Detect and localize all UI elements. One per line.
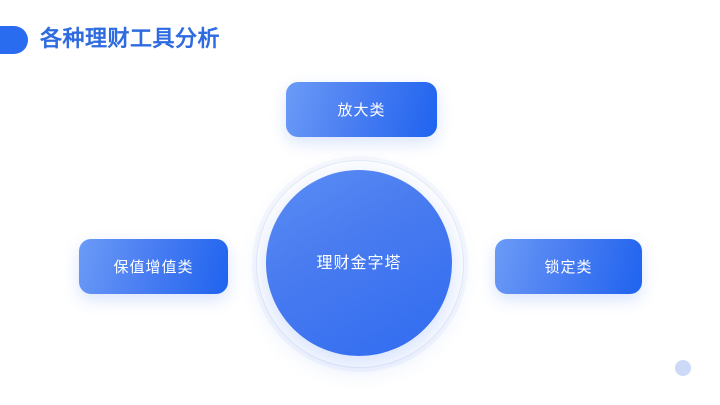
diagram-node-label: 保值增值类 — [113, 257, 193, 277]
title-accent-shape — [0, 26, 28, 54]
decorative-dot — [675, 360, 691, 376]
diagram-node-left[interactable]: 保值增值类 — [79, 239, 228, 294]
diagram-node-top[interactable]: 放大类 — [286, 82, 437, 137]
diagram-node-label: 放大类 — [337, 100, 385, 120]
diagram-node-right[interactable]: 锁定类 — [495, 239, 642, 294]
slide-canvas: 各种理财工具分析 理财金字塔 放大类 保值增值类 锁定类 — [0, 0, 720, 405]
hub-node-label: 理财金字塔 — [316, 252, 401, 274]
diagram-node-label: 锁定类 — [544, 257, 592, 277]
hub-node-center[interactable]: 理财金字塔 — [266, 170, 452, 356]
page-title: 各种理财工具分析 — [40, 25, 220, 55]
